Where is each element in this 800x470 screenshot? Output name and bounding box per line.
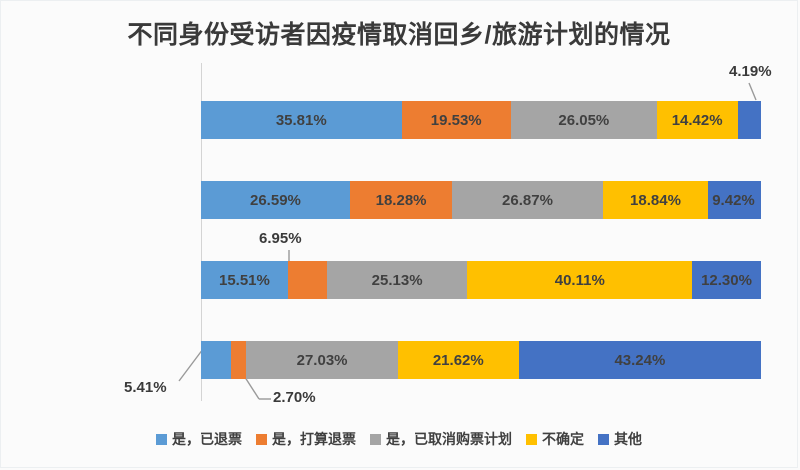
bar-value-label: 27.03% — [297, 352, 348, 369]
legend-label: 是，已取消购票计划 — [386, 429, 512, 449]
bar-segment-1-3[interactable]: 18.84% — [603, 181, 709, 219]
bar-segment-0-3[interactable]: 14.42% — [657, 101, 738, 139]
bar-segment-2-1[interactable] — [288, 261, 327, 299]
bar-row-1: 26.59% 18.28% 26.87% 18.84% 9.42% — [201, 181, 761, 219]
bar-segment-0-4[interactable] — [738, 101, 761, 139]
legend-swatch-icon — [598, 434, 609, 445]
bar-value-label: 9.42% — [712, 192, 755, 209]
legend-label: 其他 — [614, 429, 642, 449]
bar-row-3: 27.03% 21.62% 43.24% — [201, 341, 761, 379]
bar-segment-3-3[interactable]: 21.62% — [398, 341, 519, 379]
bar-value-label: 25.13% — [372, 272, 423, 289]
legend-label: 是，已退票 — [172, 429, 242, 449]
bar-segment-1-2[interactable]: 26.87% — [452, 181, 602, 219]
bar-value-label: 14.42% — [672, 112, 723, 129]
bar-segment-2-2[interactable]: 25.13% — [327, 261, 468, 299]
bar-value-label: 15.51% — [219, 272, 270, 289]
legend-item-2[interactable]: 是，已取消购票计划 — [370, 429, 512, 449]
bar-value-label: 35.81% — [276, 112, 327, 129]
external-value-label-0-4: 4.19% — [729, 63, 772, 80]
legend-label: 不确定 — [542, 429, 584, 449]
legend-swatch-icon — [256, 434, 267, 445]
bar-segment-2-3[interactable]: 40.11% — [467, 261, 692, 299]
bar-segment-3-1[interactable] — [231, 341, 246, 379]
external-value-label-2-1: 6.95% — [259, 230, 302, 247]
chart-title: 不同身份受访者因疫情取消回乡/旅游计划的情况 — [1, 15, 797, 51]
bar-value-label: 18.84% — [630, 192, 681, 209]
bar-value-label: 43.24% — [614, 352, 665, 369]
bar-segment-2-0[interactable]: 15.51% — [201, 261, 288, 299]
external-value-label-3-0: 5.41% — [124, 379, 167, 396]
chart-container: 不同身份受访者因疫情取消回乡/旅游计划的情况 公务员或事业单位员工 35.81%… — [0, 0, 798, 468]
legend-label: 是，打算退票 — [272, 429, 356, 449]
bar-value-label: 12.30% — [701, 272, 752, 289]
bar-value-label: 21.62% — [433, 352, 484, 369]
legend-item-0[interactable]: 是，已退票 — [156, 429, 242, 449]
bar-segment-0-0[interactable]: 35.81% — [201, 101, 402, 139]
legend-item-3[interactable]: 不确定 — [526, 429, 584, 449]
bar-segment-2-4[interactable]: 12.30% — [692, 261, 761, 299]
bar-segment-3-0[interactable] — [201, 341, 231, 379]
bar-segment-1-4[interactable]: 9.42% — [708, 181, 761, 219]
bar-value-label: 26.59% — [250, 192, 301, 209]
chart-legend: 是，已退票 是，打算退票 是，已取消购票计划 不确定 其他 — [1, 429, 797, 449]
legend-swatch-icon — [370, 434, 381, 445]
bar-value-label: 26.05% — [558, 112, 609, 129]
legend-swatch-icon — [526, 434, 537, 445]
bar-segment-3-4[interactable]: 43.24% — [519, 341, 761, 379]
bar-segment-0-2[interactable]: 26.05% — [511, 101, 657, 139]
bar-value-label: 18.28% — [376, 192, 427, 209]
bar-value-label: 19.53% — [431, 112, 482, 129]
bar-row-2: 15.51% 25.13% 40.11% 12.30% — [201, 261, 761, 299]
bar-row-0: 35.81% 19.53% 26.05% 14.42% — [201, 101, 761, 139]
bar-segment-1-1[interactable]: 18.28% — [350, 181, 452, 219]
external-value-label-3-1: 2.70% — [273, 389, 316, 406]
bar-value-label: 26.87% — [502, 192, 553, 209]
legend-item-1[interactable]: 是，打算退票 — [256, 429, 356, 449]
bar-segment-1-0[interactable]: 26.59% — [201, 181, 350, 219]
bar-value-label: 40.11% — [555, 272, 605, 289]
legend-swatch-icon — [156, 434, 167, 445]
bar-segment-0-1[interactable]: 19.53% — [402, 101, 511, 139]
bar-segment-3-2[interactable]: 27.03% — [246, 341, 397, 379]
legend-item-4[interactable]: 其他 — [598, 429, 642, 449]
